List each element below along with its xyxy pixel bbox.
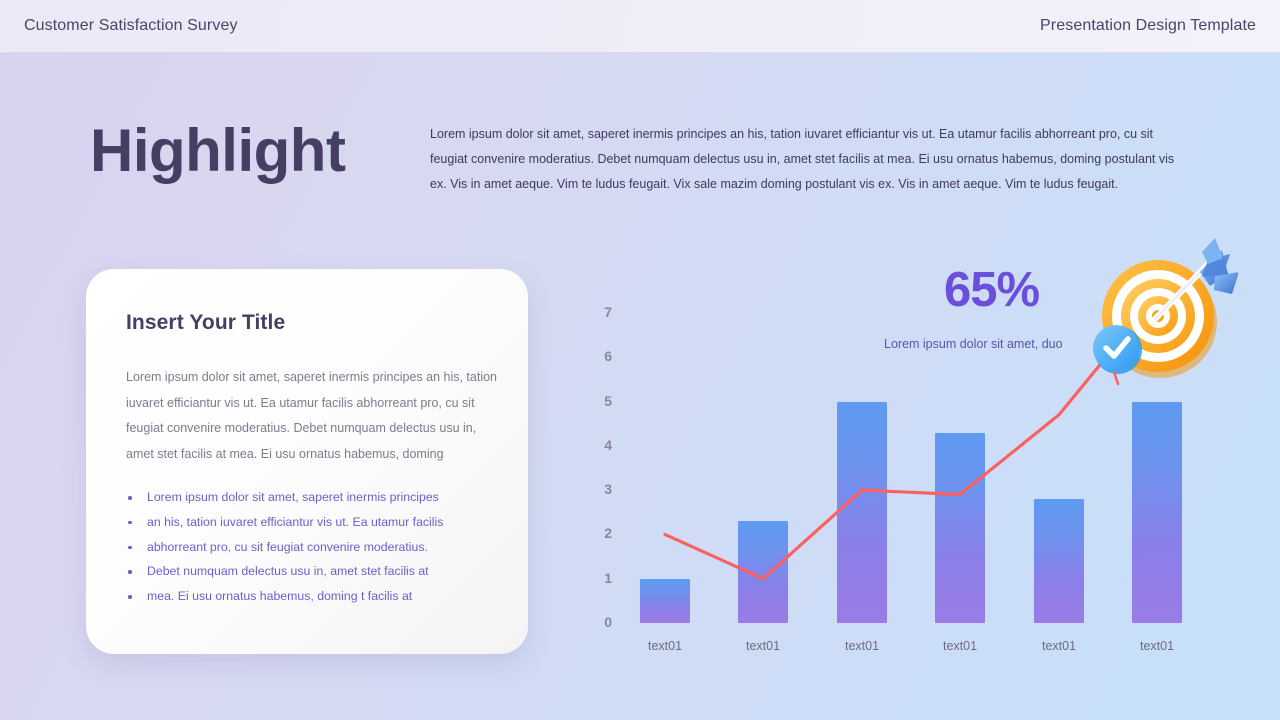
intro-paragraph: Lorem ipsum dolor sit amet, saperet iner… [430, 122, 1190, 197]
bullet-dot-icon [128, 496, 132, 500]
list-item: an his, tation iuvaret efficiantur vis u… [126, 516, 506, 528]
header-right-label: Presentation Design Template [1040, 17, 1256, 35]
bullet-dot-icon [128, 570, 132, 574]
page-title: Highlight [90, 118, 345, 184]
x-axis-label: text01 [1112, 639, 1202, 653]
bullet-dot-icon [128, 546, 132, 550]
list-item-label: abhorreant pro, cu sit feugiat convenire… [147, 540, 428, 554]
list-item-label: an his, tation iuvaret efficiantur vis u… [147, 515, 443, 529]
bullet-dot-icon [128, 595, 132, 599]
list-item-label: mea. Ei usu ornatus habemus, doming t fa… [147, 589, 412, 603]
list-item: Lorem ipsum dolor sit amet, saperet iner… [126, 491, 506, 503]
highlight-card: Insert Your Title Lorem ipsum dolor sit … [86, 269, 528, 654]
list-item-label: Debet numquam delectus usu in, amet stet… [147, 564, 429, 578]
x-axis-label: text01 [915, 639, 1005, 653]
x-axis-label: text01 [817, 639, 907, 653]
header-left-label: Customer Satisfaction Survey [24, 17, 238, 35]
x-axis-label: text01 [1014, 639, 1104, 653]
bullet-dot-icon [128, 521, 132, 525]
presentation-slide: Customer Satisfaction Survey Presentatio… [0, 0, 1280, 720]
list-item: mea. Ei usu ornatus habemus, doming t fa… [126, 590, 506, 602]
card-bullet-list: Lorem ipsum dolor sit amet, saperet iner… [126, 491, 506, 615]
target-dartboard-icon [1082, 232, 1238, 388]
list-item: abhorreant pro, cu sit feugiat convenire… [126, 541, 506, 553]
card-paragraph: Lorem ipsum dolor sit amet, saperet iner… [126, 365, 501, 468]
stat-value: 65% [944, 262, 1039, 318]
card-title: Insert Your Title [126, 311, 285, 335]
slide-header: Customer Satisfaction Survey Presentatio… [0, 0, 1280, 53]
list-item: Debet numquam delectus usu in, amet stet… [126, 565, 506, 577]
x-axis-label: text01 [620, 639, 710, 653]
list-item-label: Lorem ipsum dolor sit amet, saperet iner… [147, 490, 439, 504]
x-axis-label: text01 [718, 639, 808, 653]
stat-caption: Lorem ipsum dolor sit amet, duo [884, 337, 1063, 351]
